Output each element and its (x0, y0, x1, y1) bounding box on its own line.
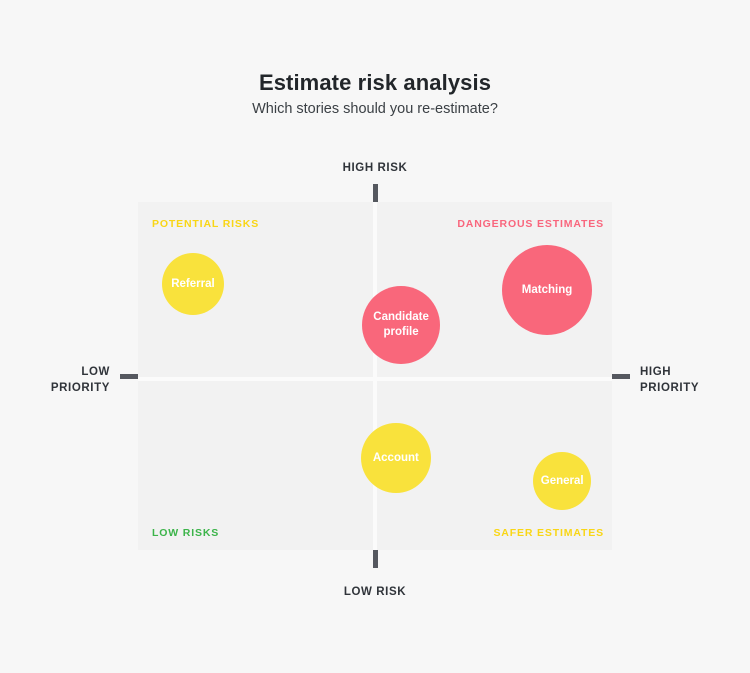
chart-title: Estimate risk analysis (0, 70, 750, 96)
bubble-label: Matching (522, 283, 572, 297)
axis-label-low-priority: LOW PRIORITY (0, 365, 110, 396)
axis-tick-high-risk (373, 184, 378, 202)
bubble-account[interactable]: Account (361, 423, 431, 493)
bubble-general[interactable]: General (533, 452, 591, 510)
bubble-label: Referral (171, 277, 214, 291)
axis-tick-low-priority (120, 374, 138, 379)
chart-subtitle: Which stories should you re-estimate? (0, 101, 750, 117)
bubble-referral[interactable]: Referral (162, 253, 224, 315)
axis-label-high-risk: HIGH RISK (0, 161, 750, 177)
bubble-candidate-profile[interactable]: Candidate profile (362, 286, 440, 364)
vertical-axis-gridline (373, 202, 377, 550)
bubble-label: Account (373, 451, 419, 465)
quadrant-label-potential-risks: POTENTIAL RISKS (152, 218, 259, 230)
quadrant-plot-area: POTENTIAL RISKS DANGEROUS ESTIMATES LOW … (138, 202, 612, 550)
axis-tick-low-risk (373, 550, 378, 568)
bubble-matching[interactable]: Matching (502, 245, 592, 335)
horizontal-axis-gridline (138, 377, 612, 381)
quadrant-label-low-risks: LOW RISKS (152, 527, 219, 539)
axis-tick-high-priority (612, 374, 630, 379)
bubble-label: Candidate profile (373, 310, 429, 339)
axis-label-low-risk: LOW RISK (0, 585, 750, 601)
axis-label-high-priority: HIGH PRIORITY (640, 365, 750, 396)
quadrant-label-safer-estimates: SAFER ESTIMATES (493, 527, 604, 539)
quadrant-label-dangerous-estimates: DANGEROUS ESTIMATES (457, 218, 604, 230)
bubble-label: General (541, 474, 584, 488)
chart-canvas: Estimate risk analysis Which stories sho… (0, 0, 750, 673)
